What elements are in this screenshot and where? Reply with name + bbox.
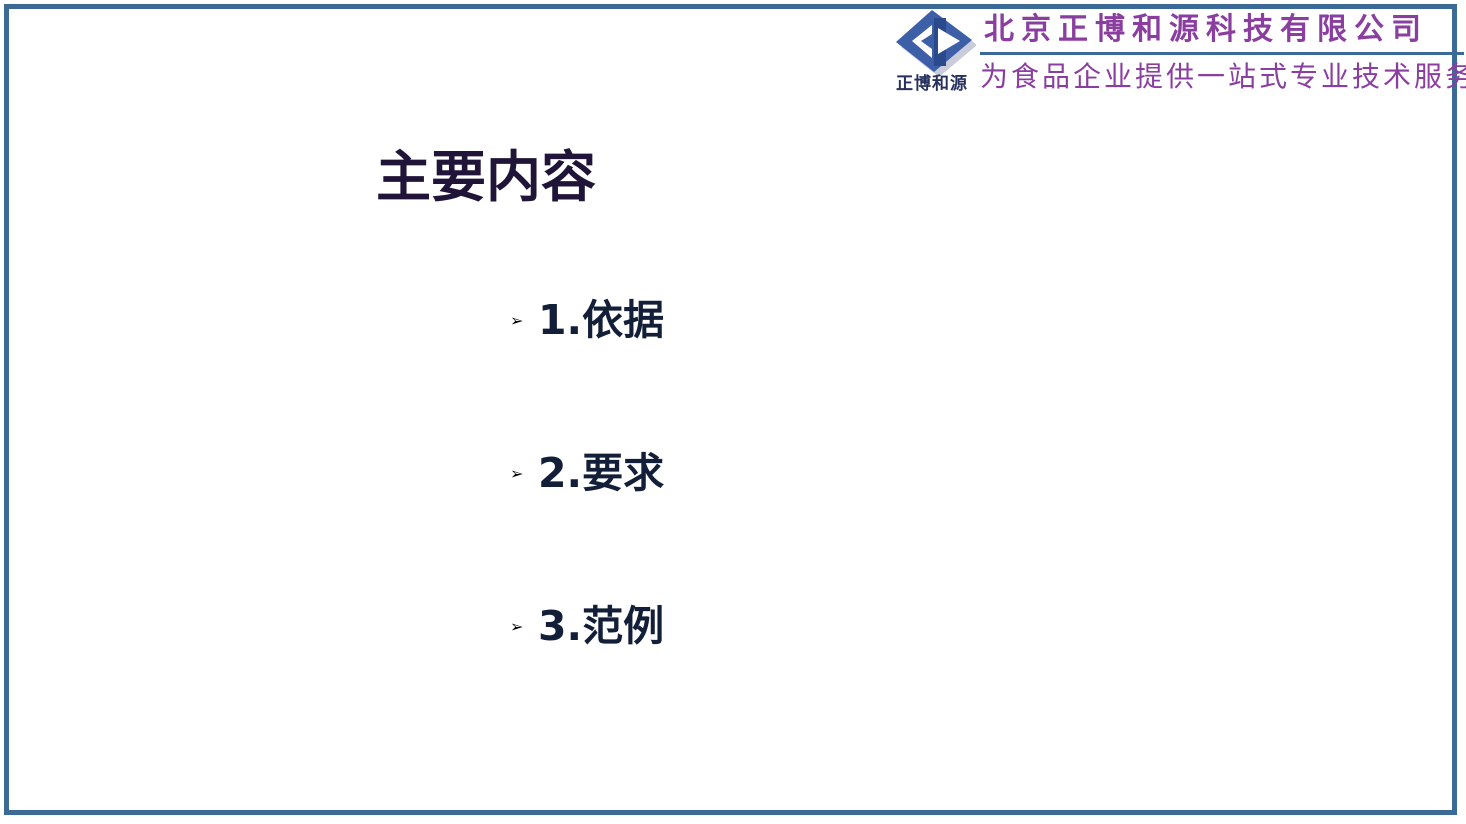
list-item: ➢ 1.依据 [510, 290, 664, 352]
company-branding-header: 正博和源 北京正博和源科技有限公司 为食品企业提供一站式专业技术服务 [884, 6, 1456, 112]
presentation-slide: 正博和源 北京正博和源科技有限公司 为食品企业提供一站式专业技术服务 主要内容 … [0, 0, 1466, 824]
zhengbo-heyuan-z-diamond-logo-icon [888, 8, 976, 78]
list-item-label: 2.要求 [538, 451, 664, 496]
list-item-label: 1.依据 [538, 298, 664, 343]
company-slogan: 为食品企业提供一站式专业技术服务 [980, 58, 1456, 96]
chevron-bullet-icon: ➢ [510, 459, 536, 489]
company-logo: 正博和源 [884, 6, 980, 108]
page-title: 主要内容 [376, 146, 596, 209]
chevron-bullet-icon: ➢ [510, 306, 536, 336]
logo-wordmark: 正博和源 [884, 76, 980, 93]
list-item-label: 3.范例 [538, 604, 664, 649]
chevron-bullet-icon: ➢ [510, 612, 536, 642]
slide-border-frame [4, 4, 1457, 815]
brand-text-block: 北京正博和源科技有限公司 为食品企业提供一站式专业技术服务 [980, 6, 1456, 96]
company-name: 北京正博和源科技有限公司 [980, 10, 1456, 50]
list-item: ➢ 2.要求 [510, 443, 664, 505]
list-item: ➢ 3.范例 [510, 596, 664, 658]
brand-divider-rule [980, 52, 1464, 55]
agenda-list: ➢ 1.依据 ➢ 2.要求 ➢ 3.范例 [510, 290, 664, 658]
